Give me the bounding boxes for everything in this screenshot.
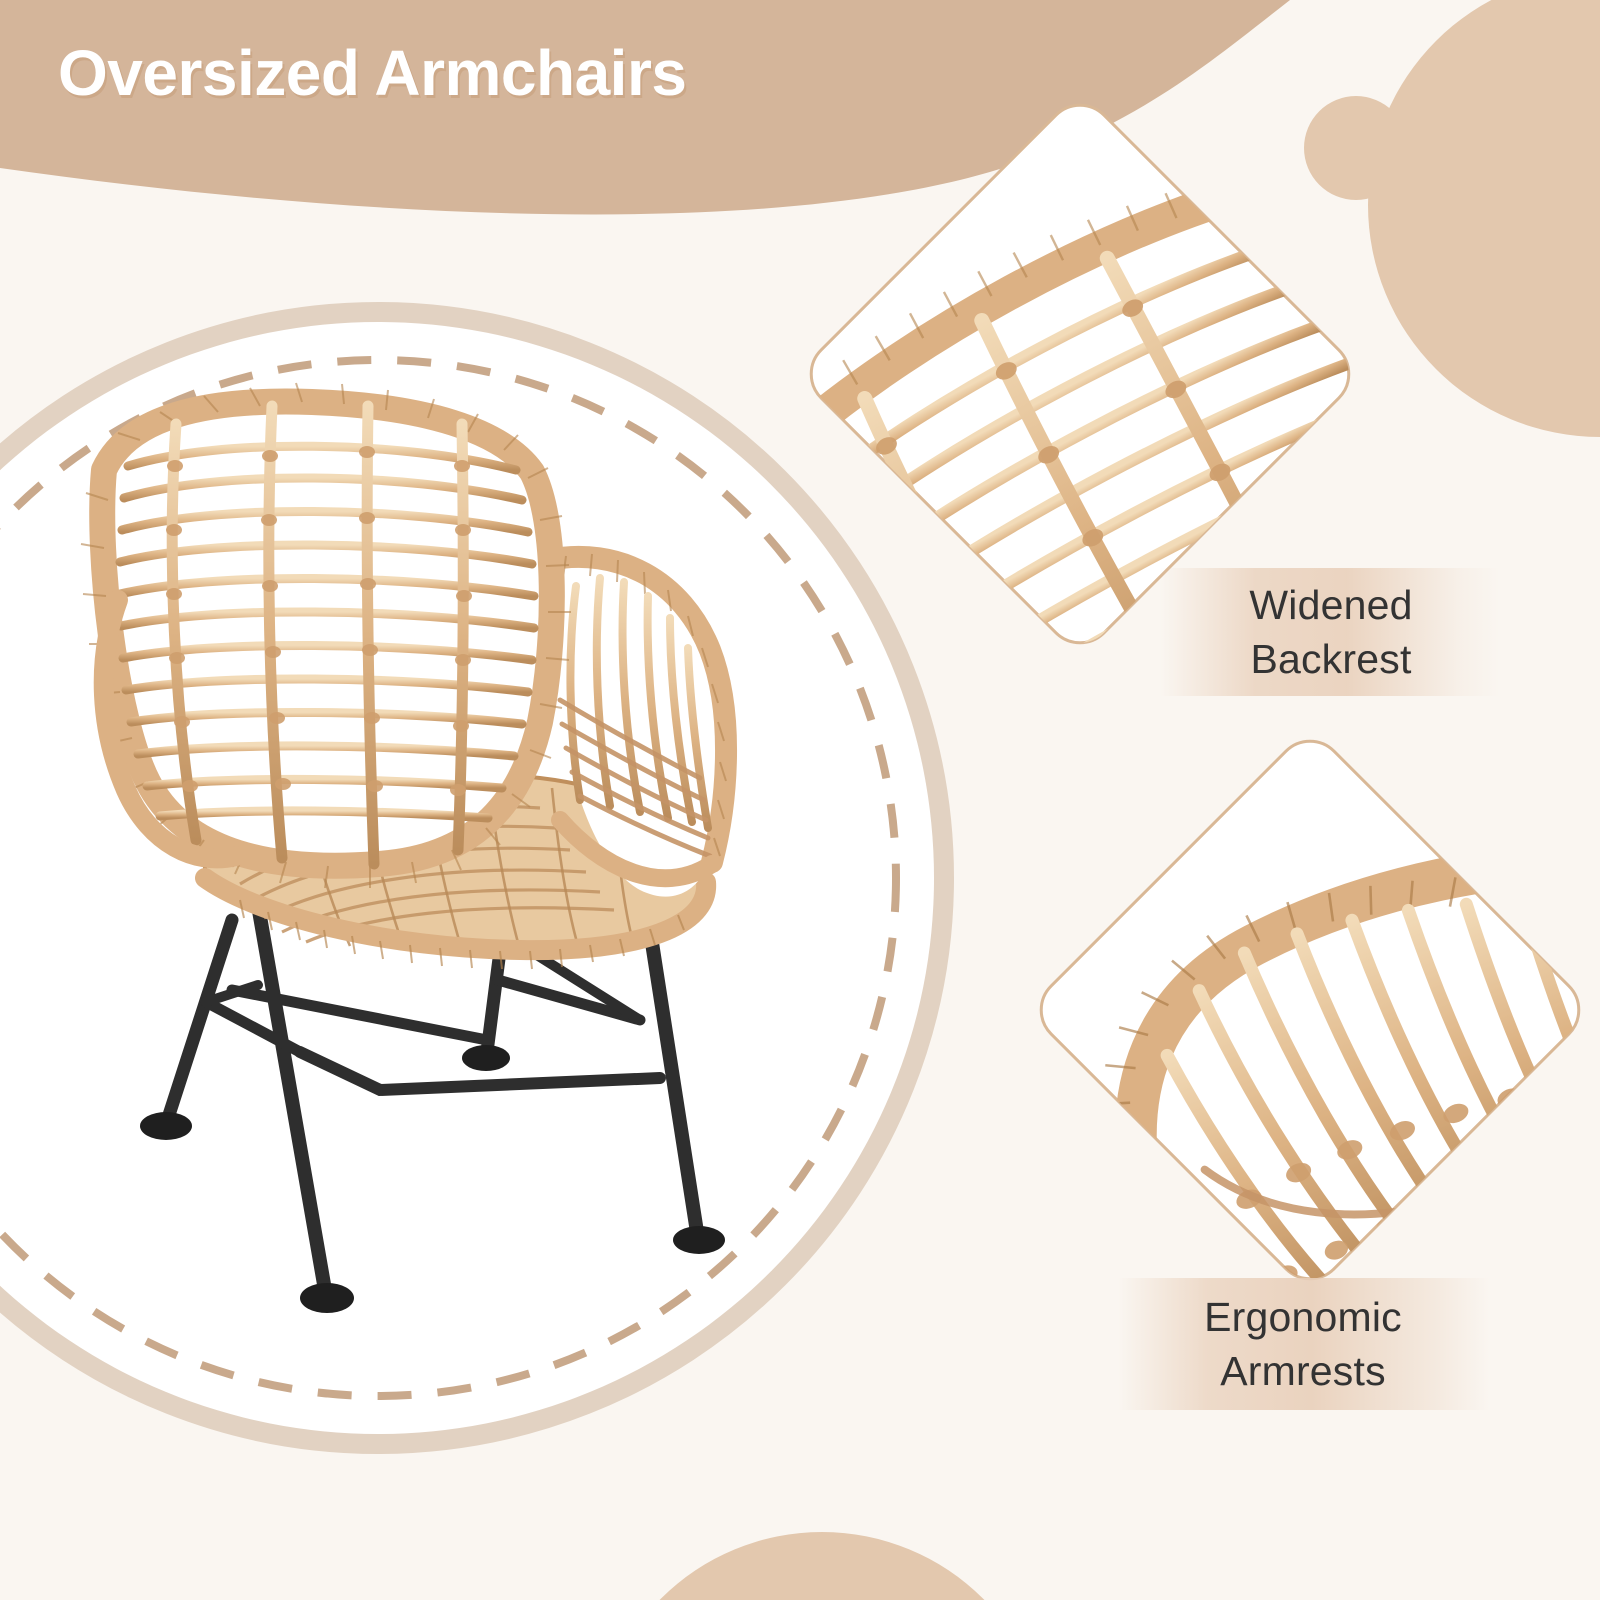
page-title: Oversized Armchairs [58, 36, 686, 110]
feature-label-widened-backrest: Widened Backrest [1180, 578, 1482, 686]
feature-label-ergonomic-armrests: Ergonomic Armrests [1138, 1290, 1468, 1398]
product-banner-canvas: Oversized Armchairs [0, 0, 1600, 1600]
